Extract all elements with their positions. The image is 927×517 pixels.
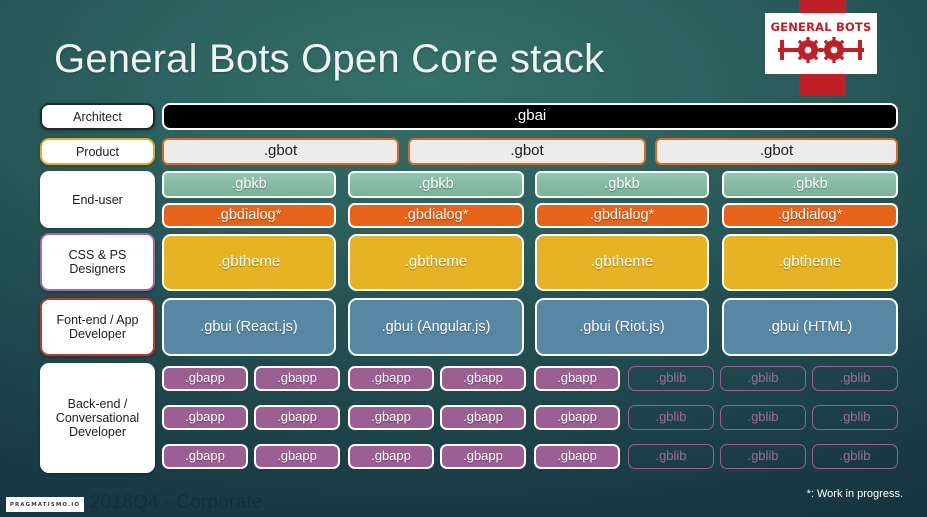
layer-gbapp-r1c2[interactable]: .gbapp [254,366,340,391]
role-label-front-end-app-developer: Font-end / App Developer [40,298,155,356]
layer-gbapp-r1c4[interactable]: .gbapp [440,366,526,391]
layer-gblib-r2c3[interactable]: .gblib [812,405,898,430]
pragmatismo-badge: PRAGMATISMO.IO [6,497,84,512]
layer-gbtheme-1[interactable]: .gbtheme [162,234,336,291]
layer-gbtheme-3[interactable]: .gbtheme [535,234,709,291]
layer-gbapp-r3c5[interactable]: .gbapp [534,444,620,469]
layer-gbapp-r3c1[interactable]: .gbapp [162,444,248,469]
role-label-product: Product [40,138,155,165]
layer-gbkb-2[interactable]: .gbkb [348,171,524,198]
layer-gbdialog-4[interactable]: .gbdialog* [722,203,898,228]
work-in-progress-note: *: Work in progress. [807,488,903,500]
layer-gbtheme-2[interactable]: .gbtheme [348,234,524,291]
layer-gbdialog-3[interactable]: .gbdialog* [535,203,709,228]
layer-gbapp-r3c4[interactable]: .gbapp [440,444,526,469]
logo-wordmark: GENERAL BOTS [771,22,872,34]
layer-gbui-angular[interactable]: .gbui (Angular.js) [348,298,524,356]
layer-gbapp-r2c4[interactable]: .gbapp [440,405,526,430]
layer-gbot-3[interactable]: .gbot [655,138,898,165]
layer-gblib-r2c1[interactable]: .gblib [628,405,714,430]
footer-text: 2018Q4 - Corporate [90,492,263,514]
layer-gblib-r2c2[interactable]: .gblib [720,405,806,430]
role-label-architect: Architect [40,103,155,130]
layer-gbapp-r3c2[interactable]: .gbapp [254,444,340,469]
layer-gbkb-1[interactable]: .gbkb [162,171,336,198]
layer-gblib-r1c2[interactable]: .gblib [720,366,806,391]
layer-gbapp-r1c3[interactable]: .gbapp [348,366,434,391]
layer-gbkb-3[interactable]: .gbkb [535,171,709,198]
general-bots-logo: GENERAL BOTS [765,13,877,74]
layer-gbapp-r1c1[interactable]: .gbapp [162,366,248,391]
layer-gbai[interactable]: .gbai [162,103,898,130]
layer-gbtheme-4[interactable]: .gbtheme [722,234,898,291]
layer-gbapp-r1c5[interactable]: .gbapp [534,366,620,391]
role-label-back-end-conversational-developer: Back-end / Conversational Developer [40,363,155,473]
layer-gbdialog-1[interactable]: .gbdialog* [162,203,336,228]
layer-gbapp-r2c3[interactable]: .gbapp [348,405,434,430]
layer-gblib-r3c2[interactable]: .gblib [720,444,806,469]
layer-gbot-2[interactable]: .gbot [408,138,646,165]
layer-gbapp-r2c1[interactable]: .gbapp [162,405,248,430]
layer-gbapp-r2c5[interactable]: .gbapp [534,405,620,430]
layer-gblib-r3c3[interactable]: .gblib [812,444,898,469]
layer-gbdialog-2[interactable]: .gbdialog* [348,203,524,228]
layer-gblib-r1c3[interactable]: .gblib [812,366,898,391]
layer-gbapp-r3c3[interactable]: .gbapp [348,444,434,469]
layer-gbui-html[interactable]: .gbui (HTML) [722,298,898,356]
layer-gblib-r3c1[interactable]: .gblib [628,444,714,469]
role-label-css-ps-designers: CSS & PS Designers [40,233,155,291]
slide-canvas: GENERAL BOTS [0,0,927,517]
pragmatismo-badge-label: PRAGMATISMO.IO [10,502,80,508]
layer-gbui-react[interactable]: .gbui (React.js) [162,298,336,356]
layer-gbui-riot[interactable]: .gbui (Riot.js) [535,298,709,356]
role-label-end-user: End-user [40,171,155,228]
gears-logo-icon [778,35,864,65]
layer-gbot-1[interactable]: .gbot [162,138,399,165]
layer-gblib-r1c1[interactable]: .gblib [628,366,714,391]
layer-gbapp-r2c2[interactable]: .gbapp [254,405,340,430]
page-title: General Bots Open Core stack [54,37,604,82]
layer-gbkb-4[interactable]: .gbkb [722,171,898,198]
